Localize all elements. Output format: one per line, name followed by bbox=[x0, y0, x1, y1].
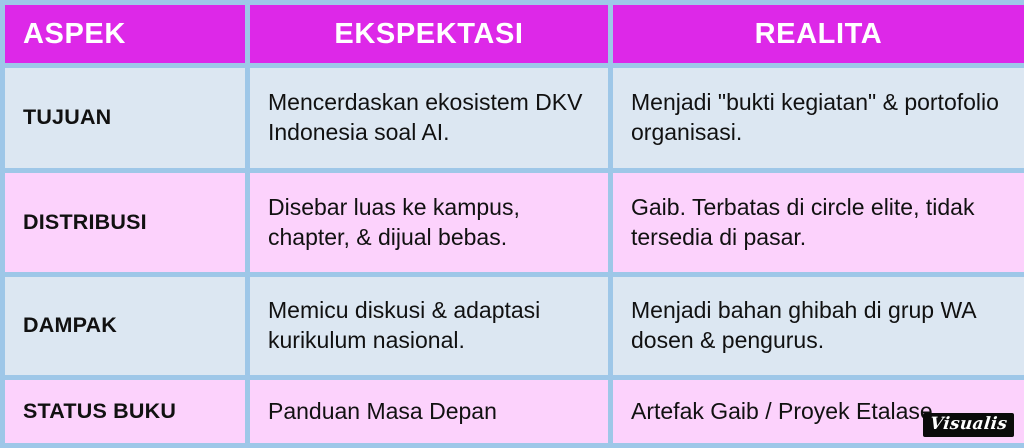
cell-ekspektasi-dampak: Memicu diskusi & adaptasi kurikulum nasi… bbox=[248, 275, 611, 378]
table-row: TUJUAN Mencerdaskan ekosistem DKV Indone… bbox=[3, 66, 1024, 171]
cell-aspect-dampak: DAMPAK bbox=[3, 275, 248, 378]
watermark-badge: Visualis bbox=[923, 413, 1014, 437]
cell-realita-distribusi: Gaib. Terbatas di circle elite, tidak te… bbox=[611, 171, 1024, 275]
table-body: TUJUAN Mencerdaskan ekosistem DKV Indone… bbox=[3, 66, 1024, 446]
comparison-table-container: ASPEK EKSPEKTASI REALITA TUJUAN Mencerda… bbox=[0, 0, 1024, 443]
cell-realita-tujuan: Menjadi "bukti kegiatan" & portofolio or… bbox=[611, 66, 1024, 171]
table-row: DAMPAK Memicu diskusi & adaptasi kurikul… bbox=[3, 275, 1024, 378]
table-row: STATUS BUKU Panduan Masa Depan Artefak G… bbox=[3, 378, 1024, 446]
watermark-label: Visualis bbox=[929, 416, 1008, 433]
cell-ekspektasi-tujuan: Mencerdaskan ekosistem DKV Indonesia soa… bbox=[248, 66, 611, 171]
cell-ekspektasi-status-buku: Panduan Masa Depan bbox=[248, 378, 611, 446]
table-row: DISTRIBUSI Disebar luas ke kampus, chapt… bbox=[3, 171, 1024, 275]
cell-aspect-status-buku: STATUS BUKU bbox=[3, 378, 248, 446]
cell-aspect-tujuan: TUJUAN bbox=[3, 66, 248, 171]
column-header-ekspektasi: EKSPEKTASI bbox=[248, 3, 611, 66]
cell-aspect-distribusi: DISTRIBUSI bbox=[3, 171, 248, 275]
column-header-realita: REALITA bbox=[611, 3, 1024, 66]
cell-realita-dampak: Menjadi bahan ghibah di grup WA dosen & … bbox=[611, 275, 1024, 378]
header-row: ASPEK EKSPEKTASI REALITA bbox=[3, 3, 1024, 66]
column-header-aspek: ASPEK bbox=[3, 3, 248, 66]
cell-ekspektasi-distribusi: Disebar luas ke kampus, chapter, & dijua… bbox=[248, 171, 611, 275]
table-header: ASPEK EKSPEKTASI REALITA bbox=[3, 3, 1024, 66]
comparison-table: ASPEK EKSPEKTASI REALITA TUJUAN Mencerda… bbox=[0, 0, 1024, 448]
